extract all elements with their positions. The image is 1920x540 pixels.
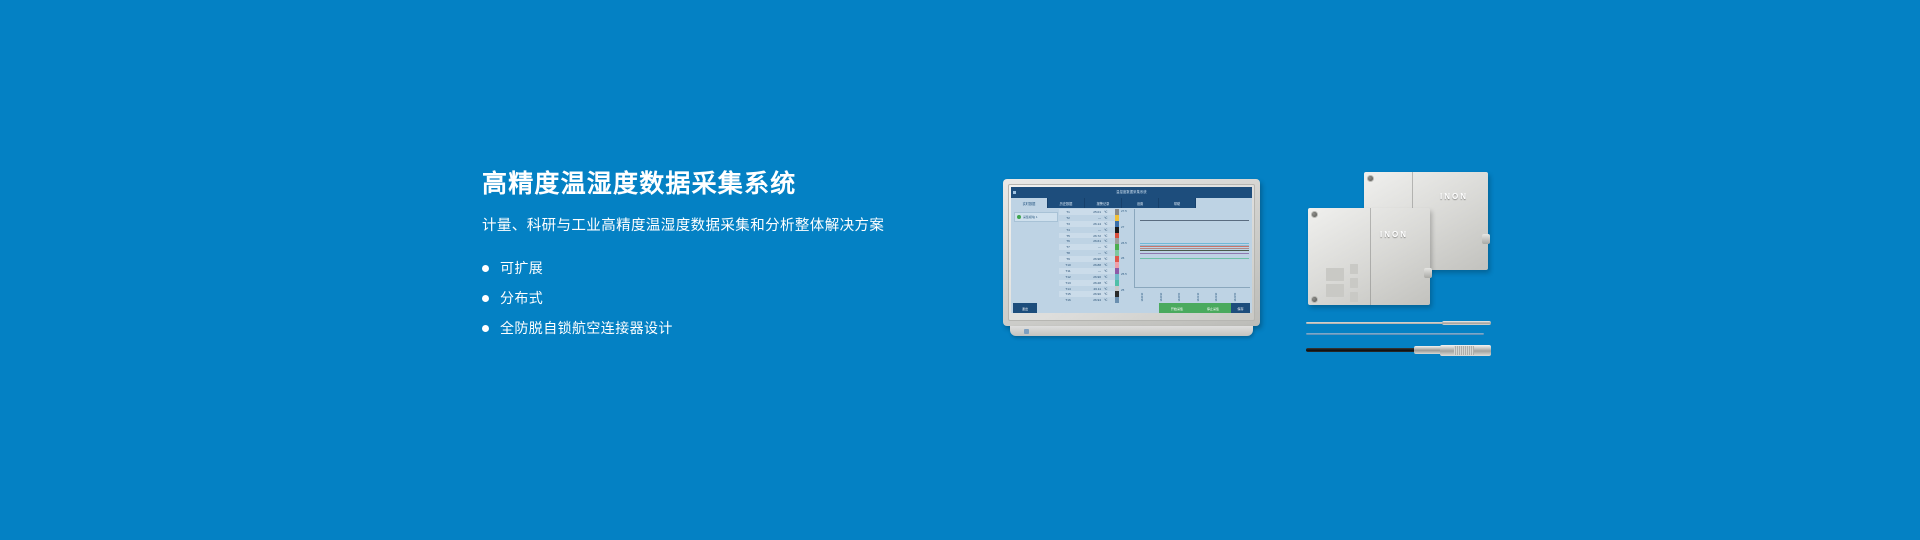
channel-id: T14: [1059, 287, 1077, 291]
channel-id: T6: [1059, 239, 1077, 243]
channel-value: 26.28: [1077, 281, 1103, 285]
chart-series-line: [1140, 250, 1249, 251]
chart-y-tick-label: 25.5: [1121, 272, 1127, 276]
feature-label: 分布式: [500, 283, 543, 313]
channel-unit: ℃: [1103, 228, 1114, 232]
channel-id: T9: [1059, 257, 1077, 261]
panel-pc-monitor: 温湿度数据采集系统 实时数据 历史数据 报警记录 设置 帮助 采集模块 1 T1…: [1003, 179, 1260, 326]
channel-value: 26.72: [1077, 234, 1103, 238]
channel-id: T15: [1059, 292, 1077, 296]
bullet-dot-icon: [482, 295, 489, 302]
bullet-dot-icon: [482, 265, 489, 272]
connector-port: [1482, 234, 1490, 244]
chart-x-tick-label: 14:20:50: [1178, 293, 1181, 302]
save-button[interactable]: 保存: [1231, 303, 1250, 313]
chart-series-line: [1140, 253, 1249, 254]
tab-alarms[interactable]: 报警记录: [1085, 198, 1122, 208]
channel-unit: ℃: [1103, 210, 1114, 214]
channel-unit: ℃: [1103, 298, 1114, 302]
feature-label: 可扩展: [500, 253, 543, 283]
humidity-probe-with-filter: [1306, 344, 1491, 356]
channel-value: 26.11: [1077, 287, 1103, 291]
channel-id: T7: [1059, 245, 1077, 249]
list-item: 可扩展: [482, 253, 902, 283]
channel-unit: ℃: [1103, 281, 1114, 285]
chart-x-tick-label: 14:21:10: [1197, 293, 1200, 302]
port-slot-icon: [1350, 264, 1358, 274]
sidebar-item-label: 采集模块 1: [1023, 215, 1038, 219]
chart-series-line: [1140, 245, 1249, 246]
chart-y-tick-label: 27.5: [1121, 209, 1127, 213]
module-seam: [1370, 208, 1371, 305]
start-capture-button[interactable]: 开始采集: [1159, 303, 1195, 313]
channel-unit: ℃: [1103, 234, 1114, 238]
probe-tip: [1442, 321, 1491, 325]
screw-icon: [1367, 175, 1374, 182]
channel-unit: ℃: [1103, 245, 1114, 249]
monitor-base: [1010, 326, 1253, 336]
page-subtitle: 计量、科研与工业高精度温湿度数据采集和分析整体解决方案: [482, 200, 902, 237]
channel-id: T10: [1059, 263, 1077, 267]
channel-unit: ℃: [1103, 269, 1114, 273]
channel-value: 26.90: [1077, 292, 1103, 296]
tab-help[interactable]: 帮助: [1159, 198, 1196, 208]
chart-y-axis: 27.52726.52625.525: [1121, 209, 1133, 288]
channel-value: ---: [1077, 269, 1103, 273]
chart-x-tick-label: 14:20:30: [1160, 293, 1163, 302]
port-slot-icon: [1350, 292, 1358, 302]
probe-shaft: [1306, 322, 1446, 324]
bullet-dot-icon: [482, 325, 489, 332]
vent-grid-icon: [1326, 268, 1344, 281]
channel-unit: ℃: [1103, 257, 1114, 261]
channel-unit: ℃: [1103, 222, 1114, 226]
channel-unit: ℃: [1103, 287, 1114, 291]
module-brand-label: INON: [1440, 192, 1468, 201]
channel-unit: ℃: [1103, 292, 1114, 296]
channel-id: T4: [1059, 228, 1077, 232]
list-item: 分布式: [482, 283, 902, 313]
sidebar-item-module[interactable]: 采集模块 1: [1014, 212, 1058, 222]
chart-x-tick-label: 14:20:10: [1141, 293, 1144, 302]
channel-table: T125.01℃T2---℃T326.14℃T4---℃T526.72℃T626…: [1059, 209, 1115, 303]
series-color-legend: [1115, 209, 1119, 301]
channel-id: T1: [1059, 210, 1077, 214]
app-title-bar: 温湿度数据采集系统: [1011, 187, 1252, 198]
chart-plot-area: [1134, 209, 1250, 288]
action-bar: 退出 开始采集 停止采集 保存: [1011, 303, 1252, 313]
chart-series-line: [1140, 258, 1249, 259]
channel-unit: ℃: [1103, 239, 1114, 243]
connector-port: [1424, 268, 1432, 278]
product-banner: 高精度温湿度数据采集系统 计量、科研与工业高精度温湿度数据采集和分析整体解决方案…: [0, 0, 1920, 540]
channel-value: ---: [1077, 251, 1103, 255]
status-dot-icon: [1017, 215, 1021, 219]
channel-value: 26.61: [1077, 239, 1103, 243]
probe-knurl: [1454, 346, 1474, 355]
chart-x-tick-label: 14:21:50: [1234, 293, 1237, 302]
trend-chart: 27.52726.52625.525 14:20:1014:20:3014:20…: [1121, 209, 1250, 302]
channel-id: T5: [1059, 234, 1077, 238]
chart-y-tick-label: 27: [1121, 225, 1124, 229]
channel-id: T12: [1059, 275, 1077, 279]
channel-value: 26.90: [1077, 275, 1103, 279]
page-title: 高精度温湿度数据采集系统: [482, 168, 902, 200]
channel-value: 26.94: [1077, 298, 1103, 302]
app-window-title: 温湿度数据采集系统: [1011, 189, 1252, 194]
banner-copy: 高精度温湿度数据采集系统 计量、科研与工业高精度温湿度数据采集和分析整体解决方案…: [482, 168, 902, 343]
tab-realtime[interactable]: 实时数据: [1011, 198, 1048, 208]
probe-ferrule: [1414, 346, 1442, 354]
channel-unit: ℃: [1103, 251, 1114, 255]
port-slot-icon: [1350, 278, 1358, 288]
chart-x-axis: 14:20:1014:20:3014:20:5014:21:1014:21:30…: [1134, 288, 1250, 302]
channel-id: T8: [1059, 251, 1077, 255]
chart-y-tick-label: 25: [1121, 288, 1124, 292]
channel-value: ---: [1077, 216, 1103, 220]
chart-series-line: [1140, 243, 1249, 244]
channel-value: ---: [1077, 228, 1103, 232]
channel-id: T3: [1059, 222, 1077, 226]
channel-value: 26.98: [1077, 257, 1103, 261]
chart-y-tick-label: 26: [1121, 256, 1124, 260]
chart-x-tick-label: 14:21:30: [1215, 293, 1218, 302]
chart-series-line: [1140, 220, 1249, 221]
channel-value: 26.14: [1077, 222, 1103, 226]
channel-unit: ℃: [1103, 216, 1114, 220]
vendor-logo-icon: [1024, 329, 1029, 334]
acquisition-modules: INON INON: [1308, 172, 1488, 307]
channel-id: T2: [1059, 216, 1077, 220]
stop-capture-button[interactable]: 停止采集: [1195, 303, 1231, 313]
stainless-temperature-probe: [1306, 320, 1491, 325]
channel-unit: ℃: [1103, 263, 1114, 267]
monitor-screen: 温湿度数据采集系统 实时数据 历史数据 报警记录 设置 帮助 采集模块 1 T1…: [1011, 187, 1252, 313]
chart-y-tick-label: 26.5: [1121, 241, 1127, 245]
module-brand-label: INON: [1380, 230, 1408, 239]
tab-strip: 实时数据 历史数据 报警记录 设置 帮助: [1011, 198, 1252, 208]
probe-shaft: [1306, 333, 1484, 335]
screw-icon: [1311, 296, 1318, 303]
tab-history[interactable]: 历史数据: [1048, 198, 1085, 208]
sensor-probes: [1306, 320, 1491, 362]
channel-unit: ℃: [1103, 275, 1114, 279]
screw-icon: [1311, 211, 1318, 218]
channel-id: T13: [1059, 281, 1077, 285]
exit-button[interactable]: 退出: [1013, 303, 1037, 313]
tab-settings[interactable]: 设置: [1122, 198, 1159, 208]
module-front-unit: INON: [1308, 208, 1430, 305]
feature-list: 可扩展 分布式 全防脱自锁航空连接器设计: [482, 237, 902, 343]
list-item: 全防脱自锁航空连接器设计: [482, 313, 902, 343]
channel-id: T16: [1059, 298, 1077, 302]
probe-cable: [1306, 348, 1418, 352]
feature-label: 全防脱自锁航空连接器设计: [500, 313, 673, 343]
channel-value: 25.01: [1077, 210, 1103, 214]
blue-sheathed-probe: [1306, 332, 1484, 336]
channel-value: ---: [1077, 245, 1103, 249]
vent-grid-icon: [1326, 284, 1344, 297]
chart-series-line: [1140, 248, 1249, 249]
tab-strip-filler: [1196, 198, 1252, 208]
channel-id: T11: [1059, 269, 1077, 273]
app-body: 采集模块 1 T125.01℃T2---℃T326.14℃T4---℃T526.…: [1011, 208, 1252, 303]
device-sidebar: 采集模块 1: [1011, 208, 1059, 303]
channel-value: 26.88: [1077, 263, 1103, 267]
